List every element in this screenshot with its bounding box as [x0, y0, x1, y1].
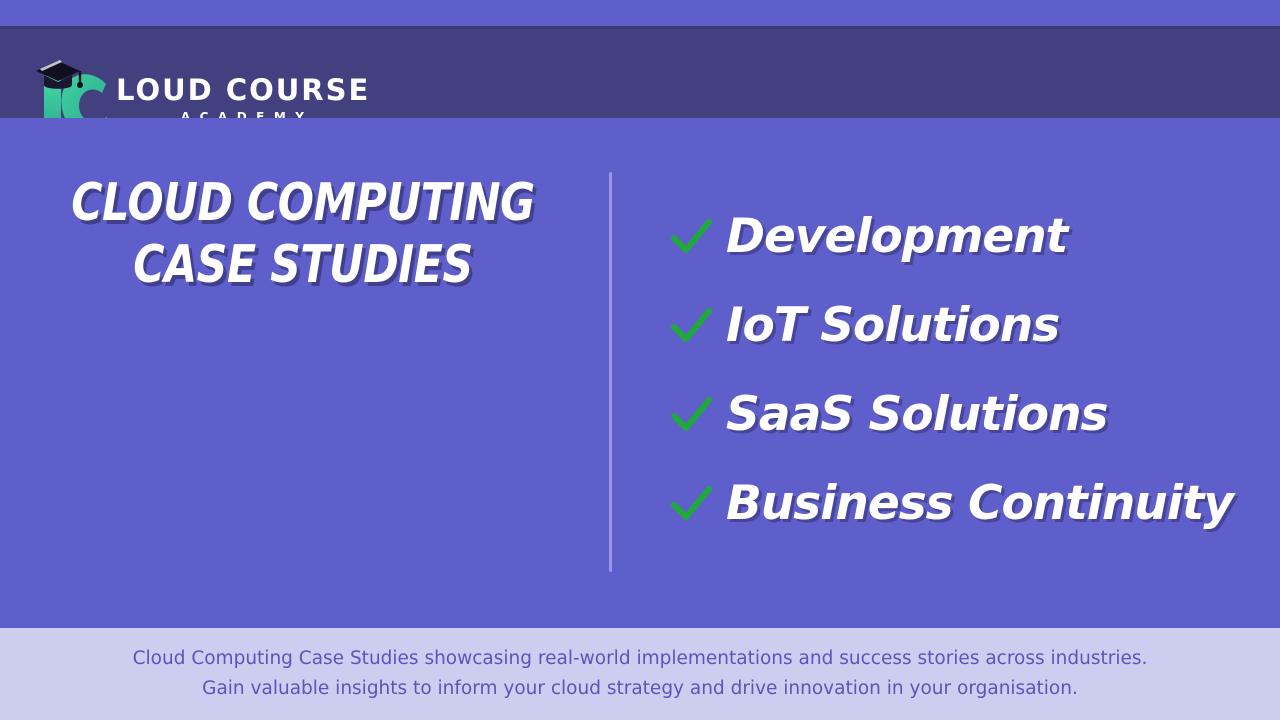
slide-root: LOUD COURSE ACADEMY CLOUD COMPUTING CASE… — [0, 0, 1280, 720]
header-band: LOUD COURSE ACADEMY — [0, 26, 1280, 118]
caption-line-2: Gain valuable insights to inform your cl… — [202, 674, 1078, 704]
vertical-divider — [609, 172, 612, 572]
logo-wordmark: LOUD COURSE ACADEMY — [116, 71, 370, 125]
list-item-label: IoT Solutions — [726, 300, 1059, 352]
list-item[interactable]: IoT Solutions — [668, 281, 1280, 370]
list-item-label: Business Continuity — [726, 478, 1233, 530]
list-item-label: Development — [726, 211, 1067, 263]
caption-band: Cloud Computing Case Studies showcasing … — [0, 628, 1280, 720]
caption-line-1: Cloud Computing Case Studies showcasing … — [133, 644, 1148, 674]
list-item-label: SaaS Solutions — [726, 389, 1108, 441]
feature-list: Development IoT Solutions SaaS Solutions… — [668, 192, 1280, 548]
page-title-line-1: CLOUD COMPUTING — [55, 172, 552, 234]
check-icon — [668, 303, 714, 349]
page-title: CLOUD COMPUTING CASE STUDIES — [55, 172, 552, 296]
list-item[interactable]: Development — [668, 192, 1280, 281]
logo-title: LOUD COURSE — [116, 75, 370, 105]
top-accent-strip — [0, 0, 1280, 26]
check-icon — [668, 214, 714, 260]
page-title-line-2: CASE STUDIES — [55, 234, 552, 296]
check-icon — [668, 392, 714, 438]
check-icon — [668, 481, 714, 527]
list-item[interactable]: SaaS Solutions — [668, 370, 1280, 459]
list-item[interactable]: Business Continuity — [668, 459, 1280, 548]
